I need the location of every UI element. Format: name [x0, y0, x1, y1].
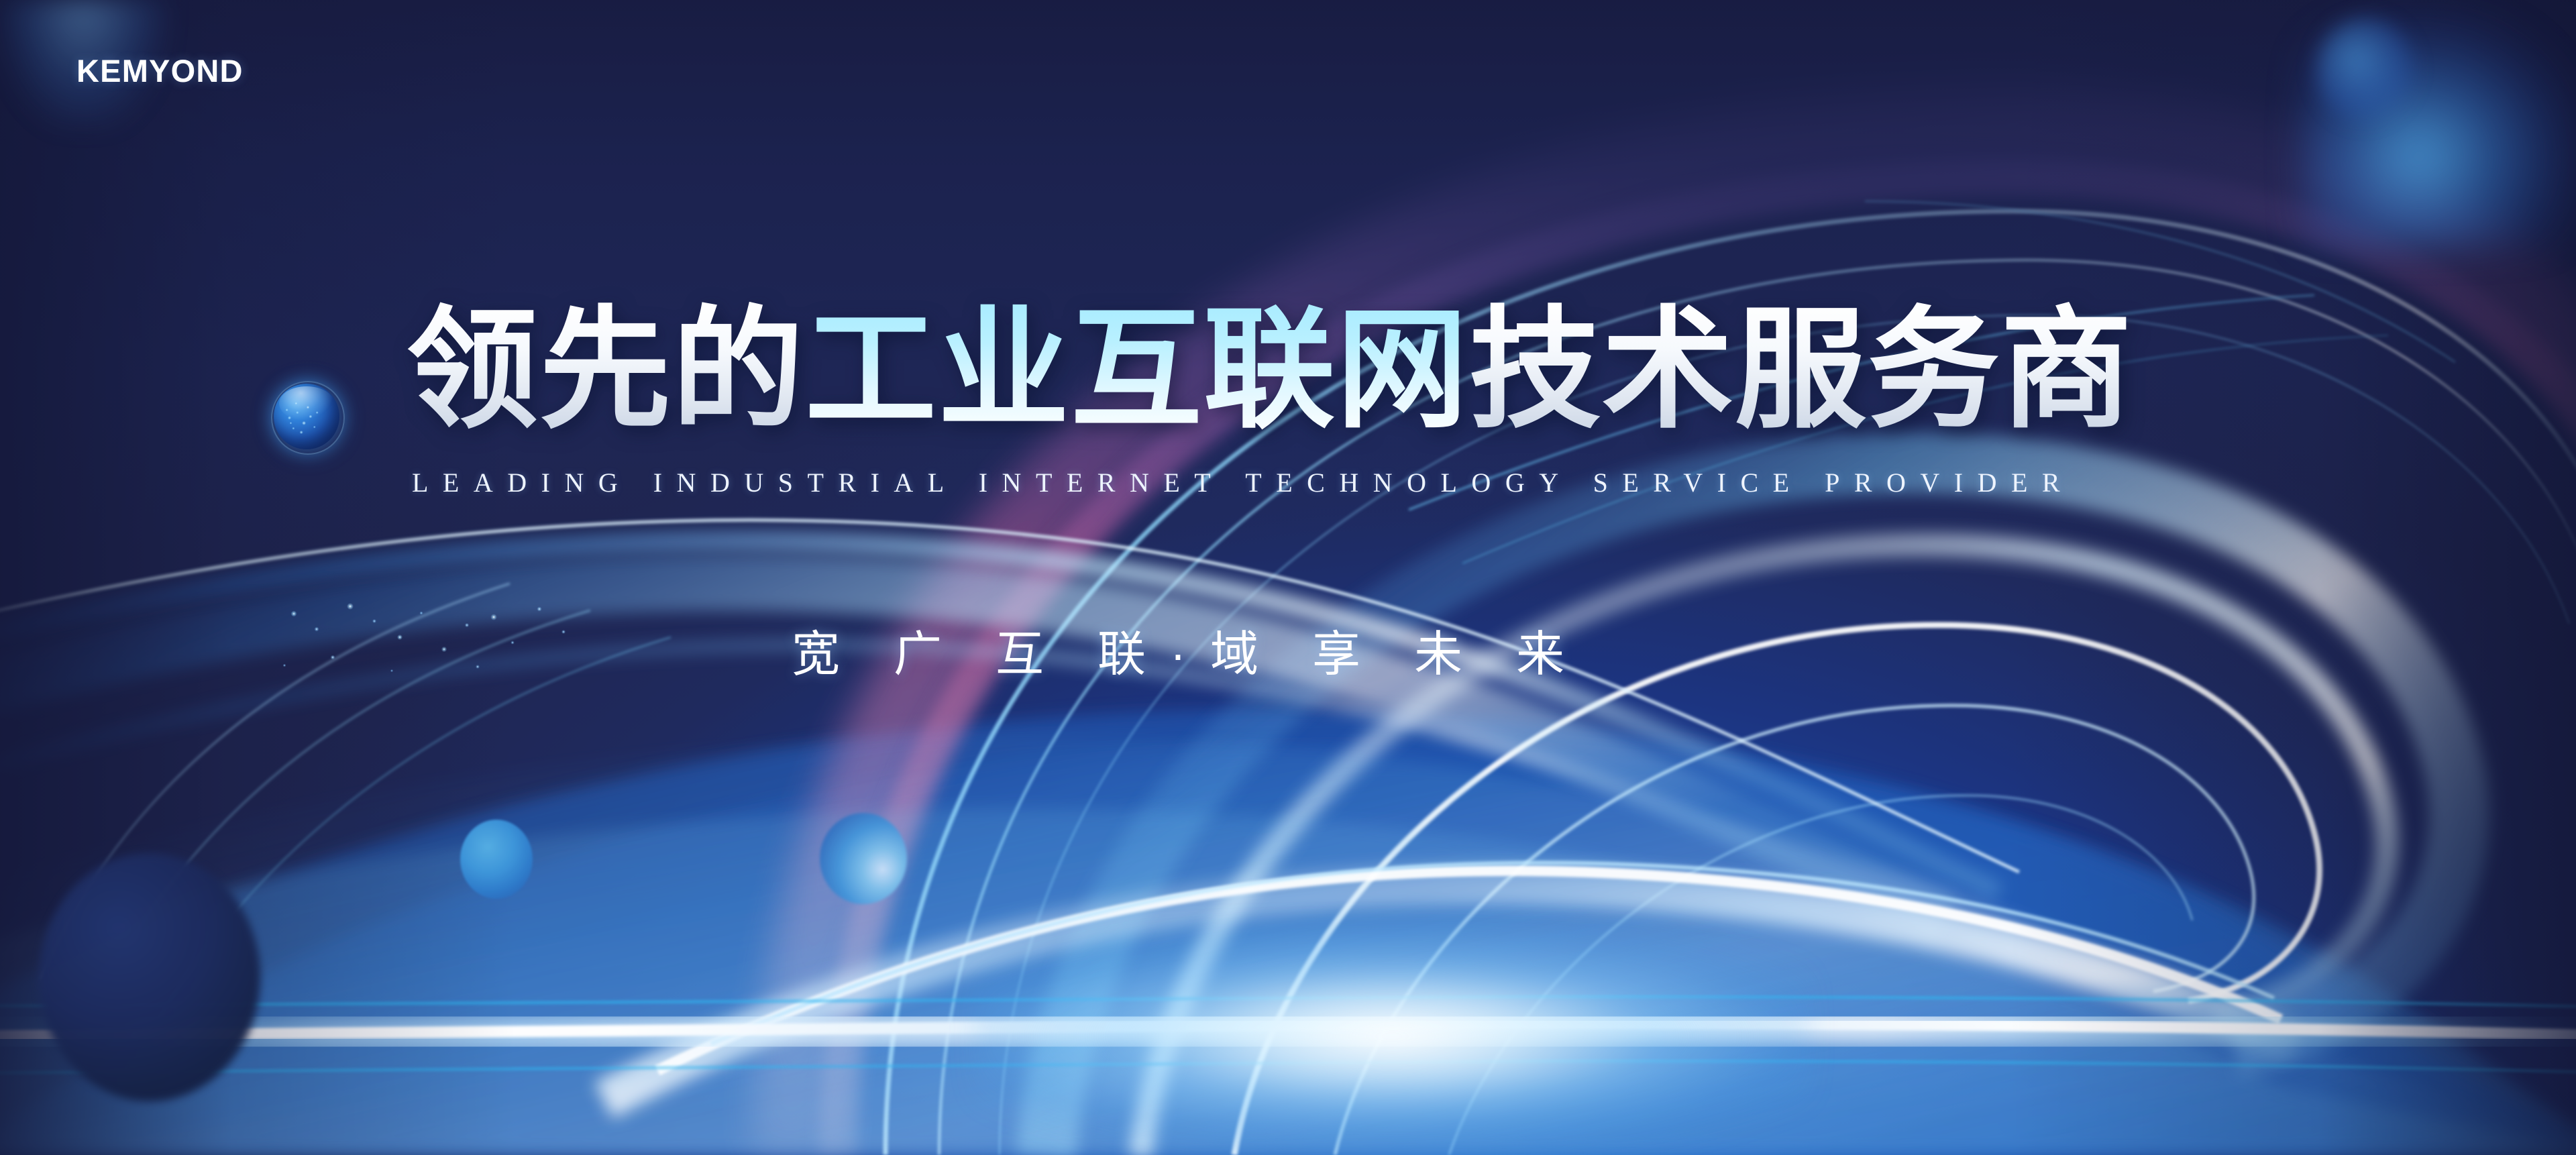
headline-segment-2: 工业互联网: [805, 300, 1469, 440]
slogan-separator-icon: ·: [1166, 627, 1210, 682]
slogan-left-text: 宽 广 互 联: [792, 628, 1166, 681]
banner-content: KEMYOND 领先的工业互联网技术服务商 LEADING INDUSTRIAL…: [0, 0, 2576, 1155]
headline-segment-1: 领先的: [407, 300, 805, 440]
hero-headline: 领先的工业互联网技术服务商: [407, 300, 2133, 440]
brand-logo[interactable]: KEMYOND: [76, 55, 244, 87]
hero-subtitle: LEADING INDUSTRIAL INTERNET TECHNOLOGY S…: [412, 467, 2074, 498]
hero-slogan: 宽 广 互 联·域 享 未 来: [792, 614, 1585, 685]
promo-banner: KEMYOND 领先的工业互联网技术服务商 LEADING INDUSTRIAL…: [0, 0, 2576, 1155]
headline-segment-3: 技术服务商: [1469, 300, 2133, 440]
slogan-right-text: 域 享 未 来: [1210, 628, 1585, 681]
